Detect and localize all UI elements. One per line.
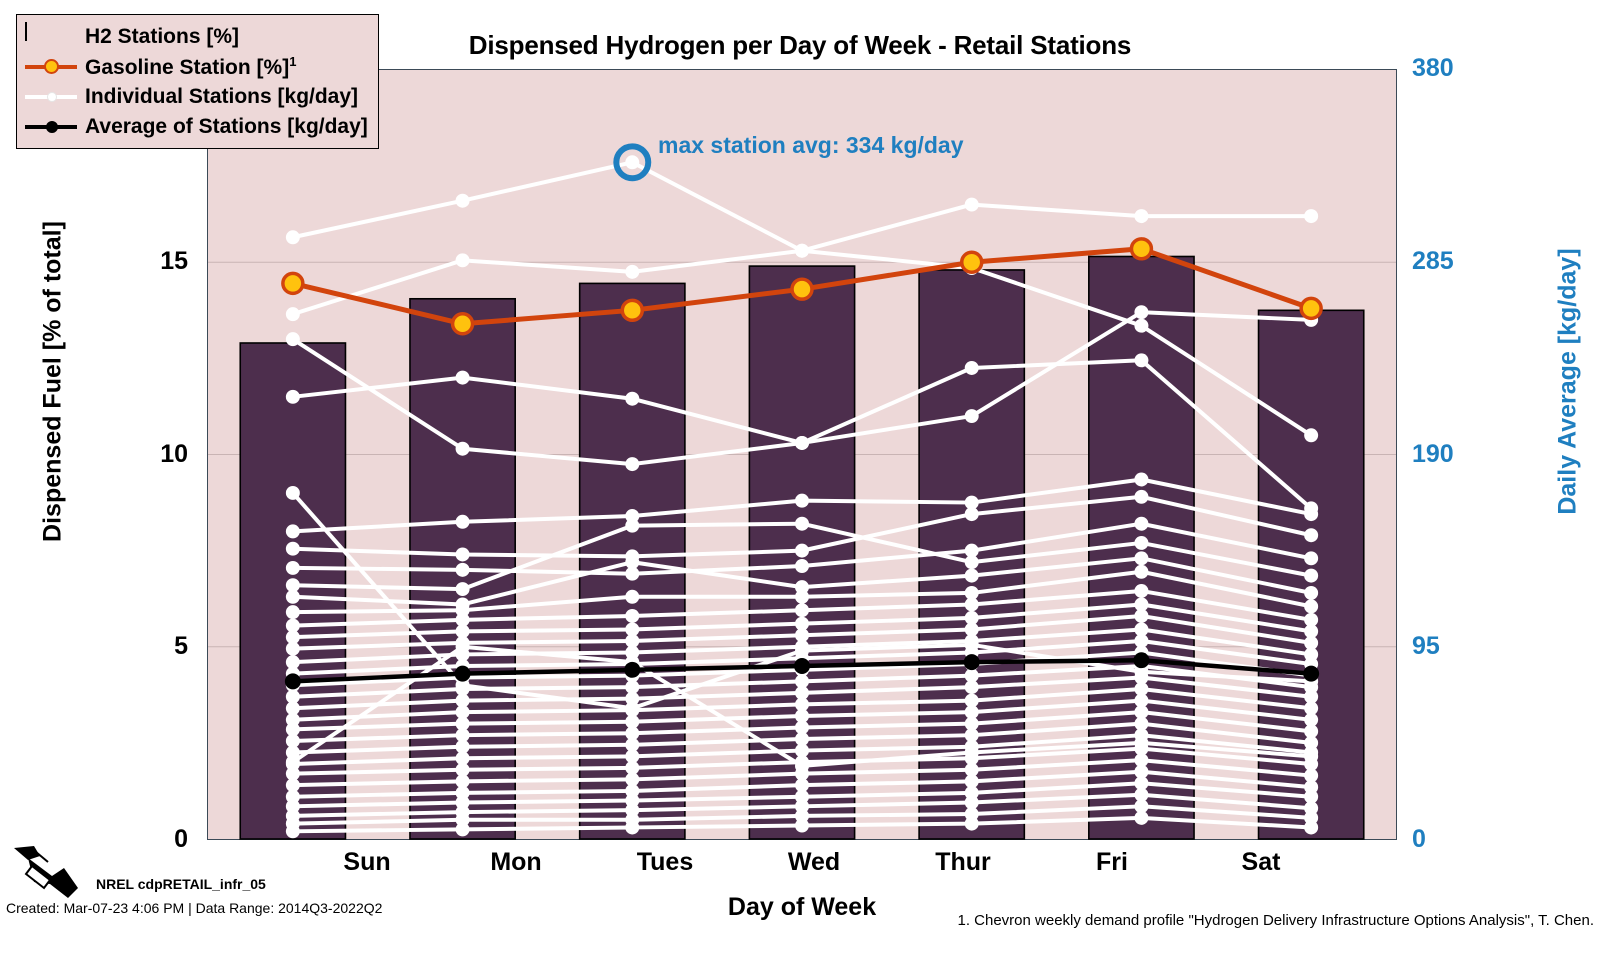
legend-swatch-icon <box>25 53 77 79</box>
legend-item-label: H2 Stations [%] <box>85 26 239 47</box>
individual-station-point <box>625 609 639 623</box>
individual-station-point <box>625 265 639 279</box>
individual-station-point <box>965 198 979 212</box>
ytick-left-0: 0 <box>108 825 188 854</box>
ytick-left-3: 15 <box>108 247 188 276</box>
individual-station-point <box>1304 209 1318 223</box>
individual-station-point <box>1134 811 1148 825</box>
individual-station-point <box>286 590 300 604</box>
individual-station-point <box>795 494 809 508</box>
ytick-left-1: 5 <box>108 632 188 661</box>
individual-station-point <box>1134 490 1148 504</box>
individual-station-point <box>1134 551 1148 565</box>
individual-station-point <box>286 307 300 321</box>
individual-station-point <box>286 332 300 346</box>
ytick-right-0: 0 <box>1412 825 1502 854</box>
individual-station-point <box>1304 428 1318 442</box>
individual-station-point <box>286 390 300 404</box>
individual-station-point <box>286 755 300 769</box>
individual-station-point <box>625 555 639 569</box>
ytick-right-1: 95 <box>1412 632 1502 661</box>
legend-item-label: Average of Stations [kg/day] <box>85 116 368 137</box>
xtick-sun: Sun <box>287 848 447 877</box>
gasoline-station-point[interactable] <box>453 314 473 334</box>
individual-station-point <box>965 409 979 423</box>
individual-station-point <box>795 244 809 258</box>
individual-station-point <box>286 561 300 575</box>
individual-station-point <box>795 544 809 558</box>
individual-station-point <box>286 524 300 538</box>
individual-station-point <box>795 644 809 658</box>
individual-station-point <box>625 701 639 715</box>
individual-station-point <box>1134 319 1148 333</box>
individual-station-point <box>965 680 979 694</box>
individual-station-point <box>1134 353 1148 367</box>
legend-item-0[interactable]: H2 Stations [%] <box>25 21 368 51</box>
legend-item-1[interactable]: Gasoline Station [%]1 <box>25 51 368 81</box>
legend-swatch-icon <box>25 83 77 109</box>
individual-station-point <box>1134 305 1148 319</box>
individual-station-point <box>1134 536 1148 550</box>
legend-item-2[interactable]: Individual Stations [kg/day] <box>25 81 368 111</box>
individual-station-point <box>1134 736 1148 750</box>
individual-station-point <box>456 582 470 596</box>
individual-station-point <box>965 569 979 583</box>
individual-station-point <box>286 605 300 619</box>
individual-station-point <box>965 507 979 521</box>
individual-station-point <box>286 486 300 500</box>
chart-legend: H2 Stations [%]Gasoline Station [%]1Indi… <box>16 14 379 149</box>
gasoline-station-point[interactable] <box>1131 239 1151 259</box>
individual-station-point <box>795 517 809 531</box>
average-stations-point <box>964 654 980 670</box>
individual-station-point <box>456 515 470 529</box>
legend-item-label: Individual Stations [kg/day] <box>85 86 358 107</box>
individual-station-point <box>795 759 809 773</box>
individual-station-point <box>1304 820 1318 834</box>
individual-station-point <box>456 640 470 654</box>
individual-station-point <box>795 603 809 617</box>
average-stations-point <box>624 662 640 678</box>
xtick-tues: Tues <box>585 848 745 877</box>
xtick-mon: Mon <box>436 848 596 877</box>
individual-station-point <box>1134 565 1148 579</box>
individual-station-point <box>965 555 979 569</box>
individual-station-point <box>1134 609 1148 623</box>
ytick-left-2: 10 <box>108 440 188 469</box>
individual-station-point <box>1134 584 1148 598</box>
xtick-thur: Thur <box>883 848 1043 877</box>
individual-station-point <box>625 590 639 604</box>
average-stations-point <box>1133 652 1149 668</box>
legend-item-3[interactable]: Average of Stations [kg/day] <box>25 111 368 141</box>
chart-canvas <box>208 70 1396 839</box>
individual-station-point <box>1134 473 1148 487</box>
individual-station-point <box>795 819 809 833</box>
individual-station-point <box>1304 599 1318 613</box>
individual-station-point <box>1304 551 1318 565</box>
individual-station-point <box>965 638 979 652</box>
gasoline-station-point[interactable] <box>792 279 812 299</box>
footnote-1: 1. Chevron weekly demand profile "Hydrog… <box>0 912 1594 929</box>
individual-station-point <box>795 559 809 573</box>
gasoline-station-point[interactable] <box>1301 298 1321 318</box>
individual-station-point <box>965 817 979 831</box>
xtick-wed: Wed <box>734 848 894 877</box>
gasoline-station-point[interactable] <box>962 252 982 272</box>
xtick-sat: Sat <box>1181 848 1341 877</box>
legend-swatch-icon <box>25 113 77 139</box>
max-station-annotation: max station avg: 334 kg/day <box>658 132 964 159</box>
individual-station-point <box>456 194 470 208</box>
ytick-right-4: 380 <box>1412 54 1502 83</box>
individual-station-point <box>456 442 470 456</box>
individual-station-point <box>286 542 300 556</box>
gasoline-station-point[interactable] <box>622 300 642 320</box>
legend-swatch-icon <box>25 23 77 49</box>
y-axis-left-label: Dispensed Fuel [% of total] <box>39 132 68 632</box>
individual-station-point <box>625 155 639 169</box>
ytick-right-3: 285 <box>1412 247 1502 276</box>
individual-station-point <box>286 824 300 838</box>
individual-station-point <box>286 230 300 244</box>
individual-station-point <box>456 563 470 577</box>
footer-plot-id: NREL cdpRETAIL_infr_05 <box>96 876 266 892</box>
xtick-fri: Fri <box>1032 848 1192 877</box>
individual-station-point <box>456 547 470 561</box>
individual-station-point <box>795 590 809 604</box>
individual-station-point <box>625 820 639 834</box>
individual-station-point <box>1304 749 1318 763</box>
individual-station-point <box>1304 507 1318 521</box>
individual-station-point <box>456 371 470 385</box>
individual-station-point <box>795 436 809 450</box>
chart-plot-area <box>207 69 1397 840</box>
individual-station-point <box>625 457 639 471</box>
average-stations-point <box>455 666 471 682</box>
fuel-nozzle-icon <box>6 842 96 902</box>
average-stations-point <box>285 673 301 689</box>
ytick-right-2: 190 <box>1412 440 1502 469</box>
individual-station-point <box>456 822 470 836</box>
gasoline-station-point[interactable] <box>283 273 303 293</box>
individual-station-point <box>1134 517 1148 531</box>
individual-station-point <box>965 361 979 375</box>
y-axis-right-label: Daily Average [kg/day] <box>1554 132 1583 632</box>
average-stations-point <box>1303 666 1319 682</box>
individual-station-point <box>965 746 979 760</box>
individual-station-point <box>1304 586 1318 600</box>
individual-station-point <box>965 597 979 611</box>
legend-item-label: Gasoline Station [%]1 <box>85 55 296 78</box>
individual-station-point <box>1134 209 1148 223</box>
individual-station-point <box>286 642 300 656</box>
individual-station-point <box>625 519 639 533</box>
individual-station-point <box>1304 569 1318 583</box>
individual-station-point <box>1304 528 1318 542</box>
individual-station-point <box>456 253 470 267</box>
average-stations-point <box>794 658 810 674</box>
individual-station-point <box>625 392 639 406</box>
